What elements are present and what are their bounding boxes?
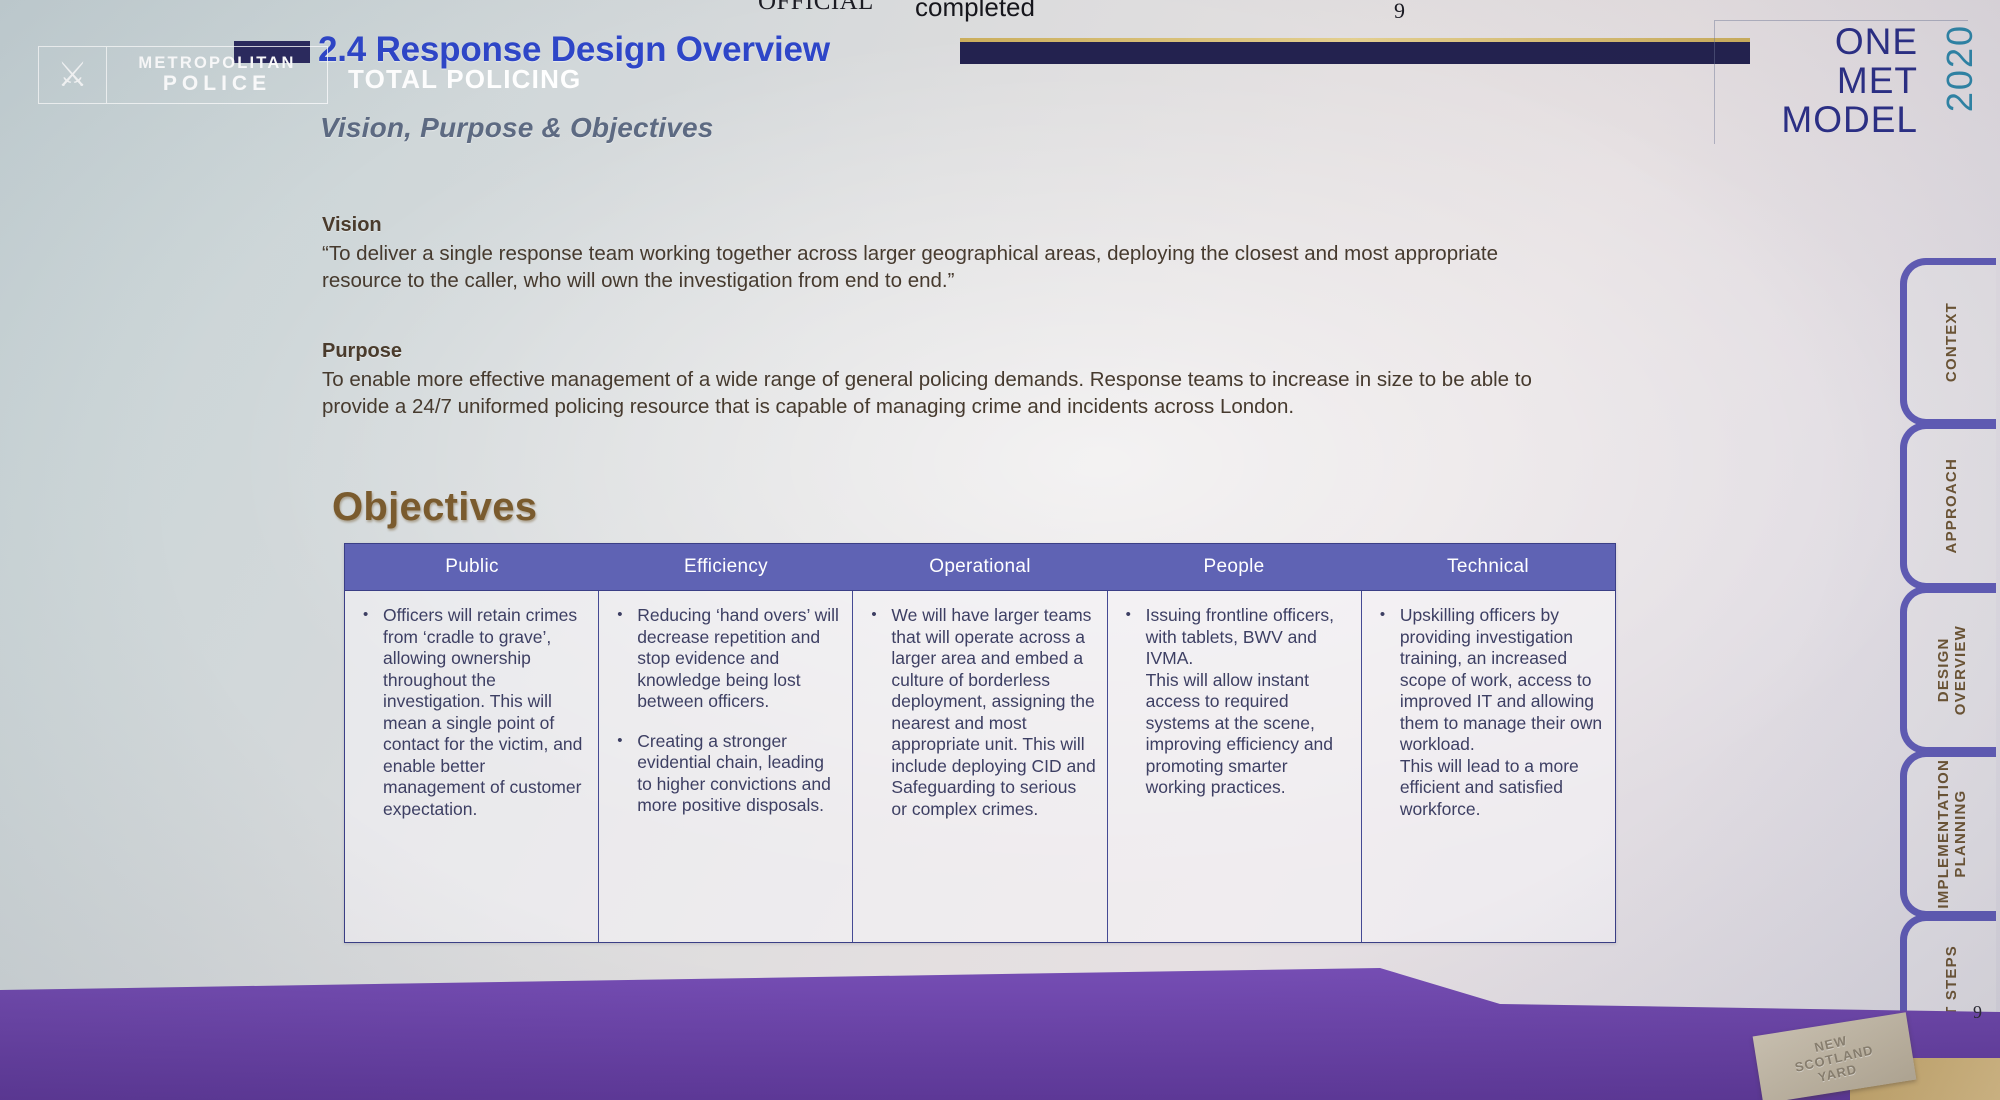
slide-subtitle: Vision, Purpose & Objectives: [320, 112, 714, 144]
column-header-operational: Operational: [853, 544, 1107, 590]
sidebar-item-approach[interactable]: APPROACH: [1900, 422, 1996, 590]
footer-band: [0, 968, 2000, 1100]
table-cell-efficiency: Reducing ‘hand overs’ will decrease repe…: [599, 591, 853, 942]
purpose-section: Purpose To enable more effective managem…: [322, 340, 1572, 420]
sidebar-item-design-overview[interactable]: DESIGN OVERVIEW: [1900, 586, 1996, 754]
purpose-body: To enable more effective management of a…: [322, 366, 1572, 420]
objectives-table: Public Efficiency Operational People Tec…: [344, 543, 1616, 943]
sidebar-item-label: IMPLEMENTATION PLANNING: [1935, 759, 1969, 909]
metropolitan-police-logo: ⚔ METROPOLITAN POLICE: [38, 46, 328, 104]
sidebar-item-context[interactable]: CONTEXT: [1900, 258, 1996, 426]
logo-line-one: ONE: [1732, 22, 1918, 61]
column-header-people: People: [1107, 544, 1361, 590]
list-item: Upskilling officers by providing investi…: [1368, 605, 1605, 820]
bullet-list-public: Officers will retain crimes from ‘cradle…: [351, 605, 588, 820]
vision-heading: Vision: [322, 214, 1572, 237]
sidebar-item-label: CONTEXT: [1943, 302, 1960, 382]
bullet-list-people: Issuing frontline officers, with tablets…: [1114, 605, 1351, 799]
column-header-efficiency: Efficiency: [599, 544, 853, 590]
top-classification-strip: OFFICIAL completed 9: [0, 0, 2000, 32]
title-navy-bar: [960, 42, 1750, 64]
list-item: Reducing ‘hand overs’ will decrease repe…: [605, 605, 842, 713]
brand-line-metropolitan: METROPOLITAN: [111, 54, 323, 72]
one-met-model-logo: ONE MET MODEL 2020: [1714, 14, 1984, 149]
logo-wordmark: ONE MET MODEL: [1732, 22, 1918, 139]
metropolitan-police-wordmark: METROPOLITAN POLICE: [107, 54, 327, 96]
vision-section: Vision “To deliver a single response tea…: [322, 214, 1572, 294]
sidebar-item-implementation-planning[interactable]: IMPLEMENTATION PLANNING: [1900, 750, 1996, 918]
objectives-table-body-row: Officers will retain crimes from ‘cradle…: [344, 591, 1616, 943]
top-page-number: 9: [1394, 0, 1405, 24]
brand-line-police: POLICE: [111, 72, 323, 96]
column-header-public: Public: [345, 544, 599, 590]
section-tab-rail: CONTEXT APPROACH DESIGN OVERVIEW IMPLEME…: [1900, 258, 2000, 1078]
list-item: Officers will retain crimes from ‘cradle…: [351, 605, 588, 820]
bullet-list-technical: Upskilling officers by providing investi…: [1368, 605, 1605, 820]
new-scotland-yard-sign-text: NEW SCOTLAND YARD: [1790, 1027, 1878, 1089]
crest-icon: ⚔: [39, 47, 107, 103]
column-header-technical: Technical: [1361, 544, 1615, 590]
purpose-heading: Purpose: [322, 340, 1572, 363]
slide-canvas: OFFICIAL completed 9 2.4 Response Design…: [0, 0, 2000, 1100]
logo-year: 2020: [1942, 24, 1978, 112]
logo-line-met: MET: [1732, 61, 1918, 100]
table-cell-public: Officers will retain crimes from ‘cradle…: [345, 591, 599, 942]
table-cell-operational: We will have larger teams that will oper…: [853, 591, 1107, 942]
list-item: Issuing frontline officers, with tablets…: [1114, 605, 1351, 799]
table-cell-technical: Upskilling officers by providing investi…: [1362, 591, 1615, 942]
logo-line-model: MODEL: [1732, 100, 1918, 139]
objectives-table-header-row: Public Efficiency Operational People Tec…: [344, 543, 1616, 591]
bullet-list-operational: We will have larger teams that will oper…: [859, 605, 1096, 820]
vision-body: “To deliver a single response team worki…: [322, 240, 1572, 294]
top-note-label: completed: [915, 0, 1035, 22]
list-item: We will have larger teams that will oper…: [859, 605, 1096, 820]
sidebar-item-label: APPROACH: [1943, 458, 1960, 553]
total-policing-strapline: TOTAL POLICING: [348, 64, 581, 95]
list-item: Creating a stronger evidential chain, le…: [605, 731, 842, 817]
sidebar-item-label: DESIGN OVERVIEW: [1935, 625, 1969, 715]
bullet-list-efficiency: Reducing ‘hand overs’ will decrease repe…: [605, 605, 842, 817]
footer-page-number: 9: [1973, 1002, 1982, 1023]
table-cell-people: Issuing frontline officers, with tablets…: [1108, 591, 1362, 942]
objectives-heading: Objectives: [332, 485, 537, 530]
classification-label: OFFICIAL: [758, 0, 874, 14]
